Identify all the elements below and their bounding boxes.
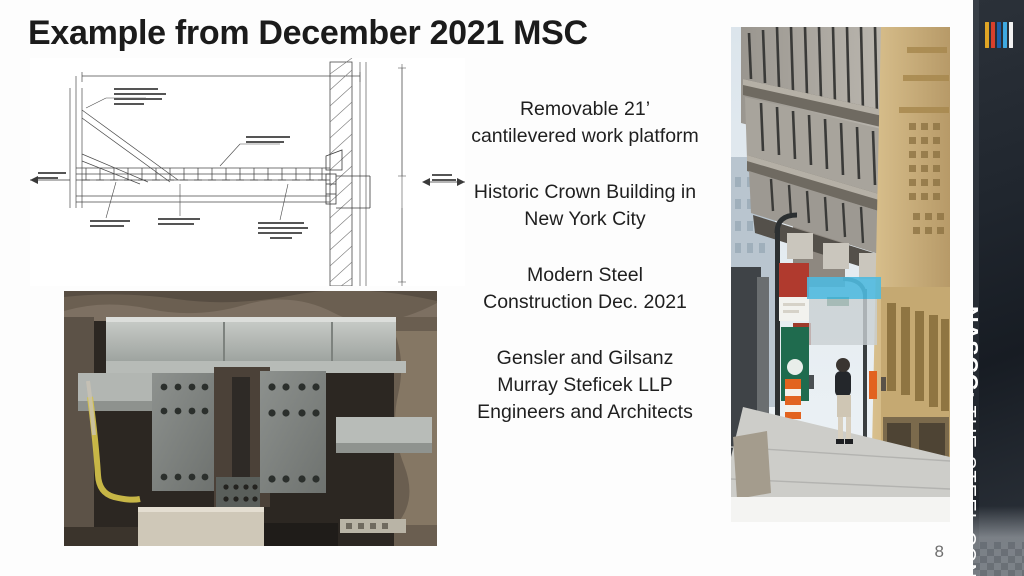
platform-description-block: Removable 21’ cantilevered work platform — [440, 96, 730, 150]
sidebar-brand: NASCC: — [973, 306, 983, 399]
cad-drawing-svg — [30, 58, 465, 286]
logo-bar-3 — [997, 22, 1001, 48]
sidebar-tagline: THE STEEL CONFERENCE — [973, 405, 979, 576]
building-location-line-1: Historic Crown Building in — [440, 179, 730, 206]
steel-connection-photo — [64, 291, 437, 546]
building-location-line-2: New York City — [440, 206, 730, 233]
logo-bar-5 — [1009, 22, 1013, 48]
logo-bar-2 — [991, 22, 995, 48]
street-scene-photo-svg — [731, 27, 950, 522]
logo-bar-4 — [1003, 22, 1007, 48]
street-scene-photo — [731, 27, 950, 522]
logo-bar-1 — [985, 22, 989, 48]
platform-description-line-2: cantilevered work platform — [440, 123, 730, 150]
platform-description-line-1: Removable 21’ — [440, 96, 730, 123]
publication-credit-block: Modern Steel Construction Dec. 2021 — [440, 262, 730, 316]
page-number: 8 — [935, 542, 944, 562]
building-location-block: Historic Crown Building in New York City — [440, 179, 730, 233]
cad-drawing-figure — [30, 58, 465, 286]
slide-canvas: Example from December 2021 MSC — [0, 0, 1024, 576]
firm-credit-block: Gensler and Gilsanz Murray Steficek LLP … — [440, 345, 730, 426]
nascc-logo-bars-icon — [985, 22, 1013, 48]
firm-credit-line-1: Gensler and Gilsanz — [440, 345, 730, 372]
page-title: Example from December 2021 MSC — [28, 14, 588, 53]
slide-text-column: Removable 21’ cantilevered work platform… — [440, 96, 730, 426]
publication-credit-line-2: Construction Dec. 2021 — [440, 289, 730, 316]
conference-branding-sidebar: NASCC: THE STEEL CONFERENCE 2023 — [973, 0, 1024, 576]
steel-connection-photo-svg — [64, 291, 437, 546]
firm-credit-line-3: Engineers and Architects — [440, 399, 730, 426]
publication-credit-line-1: Modern Steel — [440, 262, 730, 289]
sidebar-vertical-text: NASCC: THE STEEL CONFERENCE 2023 — [973, 62, 1024, 96]
firm-credit-line-2: Murray Steficek LLP — [440, 372, 730, 399]
